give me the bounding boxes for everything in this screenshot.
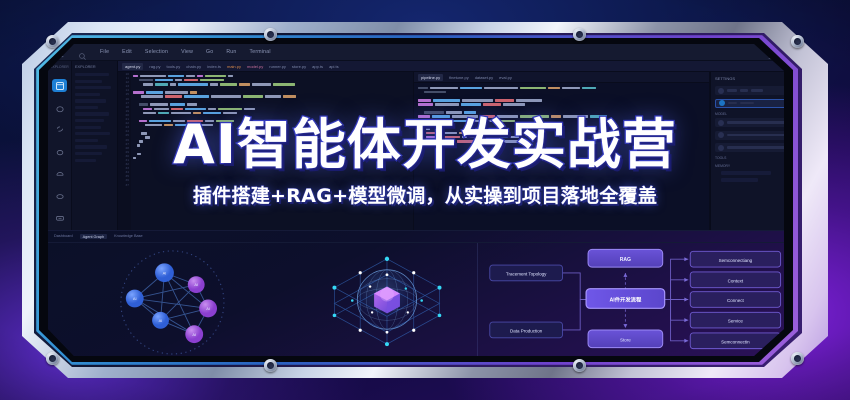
viz-tab-dashboard[interactable]: Dashboard: [54, 234, 73, 239]
workflow-diagram: Tracement Topology Data Production RAG: [478, 243, 802, 356]
explorer-row[interactable]: [75, 139, 98, 142]
flow-box-tracement-topology[interactable]: Tracement Topology: [490, 265, 563, 281]
flow-box-label: RAG: [619, 257, 630, 263]
menu-view[interactable]: View: [181, 49, 193, 55]
flow-box-right-1[interactable]: Semconnectiang: [690, 251, 780, 267]
row-text: [727, 146, 791, 149]
node-label: AI: [159, 318, 163, 323]
line-number: 37: [118, 183, 131, 187]
row-text: [740, 89, 748, 92]
frame-bolt-bottom-left: [46, 352, 59, 365]
frame-bolt-bottom-mid-left: [264, 359, 277, 372]
explorer-row[interactable]: [75, 159, 96, 162]
node-label: AI: [192, 332, 196, 337]
flow-box-label: Tracement Topology: [506, 272, 547, 277]
tab-chain-py[interactable]: chain.py: [186, 64, 201, 69]
network-svg: AI AI AI AI AI AI: [48, 243, 297, 356]
flow-box-data-production[interactable]: Data Production: [490, 322, 563, 338]
explorer-row[interactable]: [75, 99, 106, 102]
flow-box-center[interactable]: AI件开发流程: [586, 289, 665, 309]
flow-box-rag[interactable]: RAG: [588, 249, 663, 267]
row-icon: [718, 132, 724, 138]
tab-dataset-py[interactable]: dataset.py: [475, 75, 493, 80]
explorer-row[interactable]: [75, 106, 98, 109]
flow-box-label: Semconnectiang: [718, 258, 752, 263]
source-control-icon[interactable]: [52, 123, 67, 136]
flow-box-label: Context: [727, 278, 743, 283]
row-text: [751, 89, 763, 92]
account-icon[interactable]: [52, 211, 67, 224]
row-icon-active: [719, 100, 725, 106]
tab-model-py[interactable]: model.py: [247, 64, 263, 69]
viz-content: AI AI AI AI AI AI: [48, 243, 802, 356]
row-icon: [718, 120, 724, 126]
extensions-icon[interactable]: [52, 167, 67, 180]
flow-box-label: Store: [620, 337, 631, 342]
flow-svg: Tracement Topology Data Production RAG: [478, 243, 802, 356]
explorer-row[interactable]: [75, 119, 104, 122]
files-icon[interactable]: [52, 79, 67, 92]
tab-api-ts[interactable]: api.ts: [329, 64, 339, 69]
flow-box-label: AI件开发流程: [609, 295, 641, 303]
node-label: AI: [163, 270, 167, 275]
flow-box-right-2[interactable]: Context: [690, 272, 780, 288]
menu-file[interactable]: File: [100, 49, 109, 55]
explorer-row[interactable]: [75, 93, 100, 96]
node-label: AI: [133, 296, 137, 301]
frame-bolt-top-mid-left: [264, 28, 277, 41]
node-label: AI: [194, 282, 198, 287]
code-content-right: [418, 86, 707, 147]
ide-titlebar: File Edit Selection View Go Run Terminal: [48, 44, 802, 61]
tab-main-py[interactable]: main.py: [227, 64, 241, 69]
hexcore-svg: [297, 243, 477, 356]
tab-store-py[interactable]: store.py: [292, 64, 306, 69]
explorer-row[interactable]: [75, 80, 102, 83]
tab-index-ts[interactable]: index.ts: [207, 64, 221, 69]
flow-box-store[interactable]: Store: [588, 330, 663, 348]
visualization-band: Dashboard Agent Graph Knowledge Base ⌄: [48, 230, 802, 356]
node-label: AI: [206, 306, 210, 311]
right-pane-tabstrip: pipeline.py finetune.py dataset.py eval.…: [414, 72, 709, 83]
menu-selection[interactable]: Selection: [145, 49, 168, 55]
agent-network-graph: AI AI AI AI AI AI: [48, 243, 297, 356]
frame-bolt-bottom-right: [791, 352, 804, 365]
debug-icon[interactable]: [52, 145, 67, 158]
device-frame: File Edit Selection View Go Run Terminal…: [22, 22, 828, 378]
flow-box-label: Connect: [727, 298, 745, 303]
tab-app-ts[interactable]: app.ts: [312, 64, 323, 69]
tab-finetune-py[interactable]: finetune.py: [449, 75, 469, 80]
search-icon[interactable]: [78, 48, 87, 57]
ide-screen: File Edit Selection View Go Run Terminal…: [48, 44, 802, 356]
code-content: [133, 74, 411, 160]
explorer-row[interactable]: [75, 73, 109, 76]
explorer-row[interactable]: [75, 145, 107, 148]
row-text: [727, 89, 737, 92]
row-text: [740, 102, 754, 105]
row-icon: [718, 145, 724, 151]
settings-tree-row[interactable]: [721, 178, 758, 182]
menu-edit[interactable]: Edit: [122, 49, 132, 55]
explorer-row[interactable]: [75, 126, 101, 129]
menu-run[interactable]: Run: [226, 49, 236, 55]
viz-tab-knowledge-base[interactable]: Knowledge Base: [114, 234, 143, 239]
row-text: [727, 121, 791, 124]
explorer-row[interactable]: [75, 132, 110, 135]
frame-bolt-top-right: [791, 35, 804, 48]
tab-runner-py[interactable]: runner.py: [269, 64, 286, 69]
viz-tabstrip: Dashboard Agent Graph Knowledge Base ⌄: [48, 231, 802, 243]
flow-box-label: Semconnectin: [721, 339, 750, 344]
flow-box-label: Service: [728, 319, 744, 324]
search-icon[interactable]: [52, 101, 67, 114]
row-text: [727, 134, 791, 137]
menu-go[interactable]: Go: [206, 49, 213, 55]
explorer-row[interactable]: [75, 86, 111, 89]
flow-box-right-3[interactable]: Connect: [690, 292, 780, 308]
viz-tab-agent-graph[interactable]: Agent Graph: [80, 234, 108, 239]
frame-bolt-top-left: [46, 35, 59, 48]
row-text: [728, 102, 737, 105]
flow-box-right-4[interactable]: Service: [690, 312, 780, 328]
remote-icon[interactable]: [52, 189, 67, 202]
explorer-title: EXPLORER: [75, 65, 114, 69]
settings-tree-row[interactable]: [721, 171, 771, 175]
flow-box-label: Data Production: [510, 329, 543, 334]
row-icon: [718, 88, 724, 94]
explorer-row[interactable]: [75, 152, 102, 155]
knowledge-cube-visual: [297, 243, 478, 356]
tab-agent-py[interactable]: agent.py: [122, 63, 143, 70]
tab-rag-py[interactable]: rag.py: [149, 64, 160, 69]
menu-terminal[interactable]: Terminal: [249, 49, 270, 55]
explorer-row[interactable]: [75, 112, 109, 115]
tab-tools-py[interactable]: tools.py: [166, 64, 180, 69]
settings-panel-title: SETTINGS: [715, 76, 735, 81]
editor-tabstrip: agent.py rag.py tools.py chain.py index.…: [118, 61, 802, 72]
tab-eval-py[interactable]: eval.py: [499, 75, 512, 80]
tab-pipeline-py[interactable]: pipeline.py: [418, 74, 443, 81]
